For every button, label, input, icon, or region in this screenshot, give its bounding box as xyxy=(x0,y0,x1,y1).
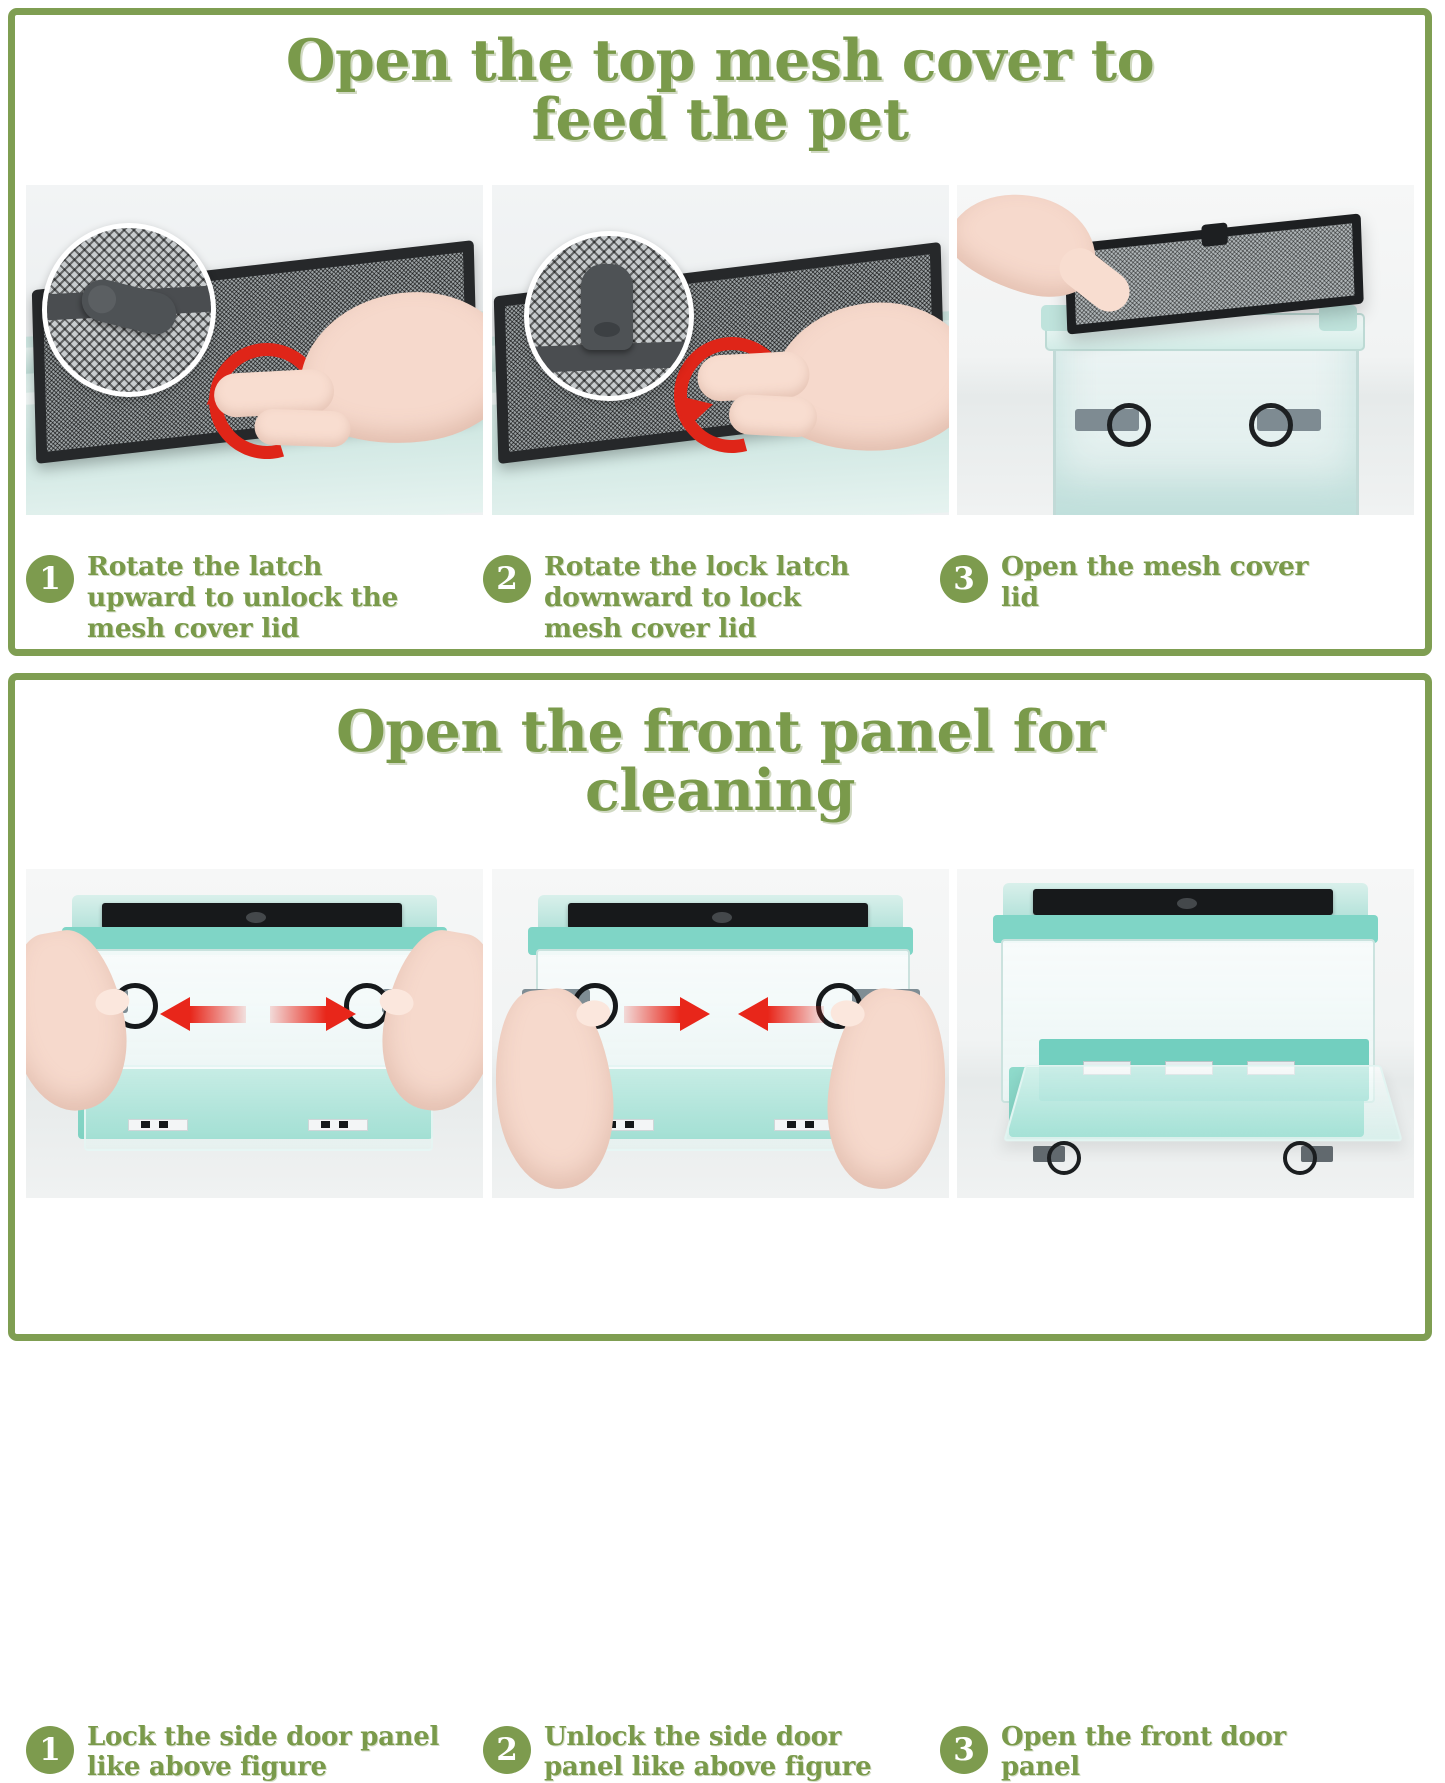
heading-line-2: cleaning xyxy=(15,762,1425,821)
step-number-badge: 3 xyxy=(940,555,988,603)
front-door-panel xyxy=(84,1065,433,1151)
heading-line-1: Open the front panel for xyxy=(15,703,1425,762)
arrow-shaft xyxy=(768,1006,824,1023)
magnifier-inset-unlocked-latch xyxy=(42,223,216,397)
front-door-panel-open xyxy=(1003,1065,1403,1141)
caption-row-bottom: 1 Lock the side door panel like above fi… xyxy=(15,1722,1425,1783)
caption-text: Lock the side door panel like above figu… xyxy=(87,1722,439,1783)
ring xyxy=(1047,1141,1081,1175)
step-number-badge: 1 xyxy=(26,555,74,603)
photo-row-top xyxy=(15,185,1425,515)
ring-latch-left xyxy=(1033,1141,1079,1167)
photo-step-1-rotate-latch-up xyxy=(26,185,483,515)
caption-line-2: panel like above figure xyxy=(544,1752,871,1782)
corner-clip-right xyxy=(1319,305,1357,331)
slide-rail-right xyxy=(308,1119,368,1131)
caption-line-3: mesh cover lid xyxy=(87,613,398,644)
caption-line-2: downward to lock xyxy=(544,582,849,613)
ring-latch-left xyxy=(1107,403,1151,447)
latch-closeup xyxy=(77,275,180,339)
step-number-badge: 1 xyxy=(26,1726,74,1774)
section-top-mesh-cover: Open the top mesh cover to feed the pet xyxy=(8,8,1432,656)
caption-line-2: upward to unlock the xyxy=(87,582,398,613)
slide-rail-right xyxy=(774,1119,834,1131)
arrow-right-icon xyxy=(624,997,710,1031)
step-number-badge: 2 xyxy=(483,1726,531,1774)
caption-step-3: 3 Open the mesh cover lid xyxy=(940,551,1397,644)
caption-line-1: Rotate the lock latch xyxy=(544,551,849,582)
caption-step-1: 1 Lock the side door panel like above fi… xyxy=(26,1722,483,1783)
arrow-left-icon xyxy=(160,997,246,1031)
arrow-shaft xyxy=(190,1006,246,1023)
caption-text: Unlock the side door panel like above fi… xyxy=(544,1722,871,1783)
arrow-head xyxy=(680,997,710,1031)
arrow-left-icon xyxy=(738,997,824,1031)
caption-line-1: Unlock the side door xyxy=(544,1722,871,1752)
arrow-shaft xyxy=(270,1006,326,1023)
section-top-heading: Open the top mesh cover to feed the pet xyxy=(15,15,1425,149)
photo-step-1-lock-side-door xyxy=(26,869,483,1198)
caption-line-3: mesh cover lid xyxy=(544,613,849,644)
middle-finger xyxy=(728,394,818,439)
section-bottom-front-panel: Open the front panel for cleaning xyxy=(8,673,1432,1341)
mesh-cover-lid xyxy=(568,903,868,929)
caption-step-1: 1 Rotate the latch upward to unlock the … xyxy=(26,551,483,644)
photo-step-3-open-mesh-lid xyxy=(957,185,1414,515)
arrow-head xyxy=(738,997,768,1031)
photo-step-3-open-front-door xyxy=(957,869,1414,1198)
instruction-sheet: Open the top mesh cover to feed the pet xyxy=(0,0,1445,1349)
caption-line-1: Rotate the latch xyxy=(87,551,398,582)
slide-rail-left xyxy=(128,1119,188,1131)
arrow-right-icon xyxy=(270,997,356,1031)
ring-latch-right xyxy=(1249,403,1293,447)
photo-step-2-rotate-latch-down xyxy=(492,185,949,515)
caption-step-2: 2 Unlock the side door panel like above … xyxy=(483,1722,940,1783)
caption-text: Open the mesh cover lid xyxy=(1001,551,1308,613)
caption-line-2: lid xyxy=(1001,582,1308,613)
arrow-head xyxy=(326,997,356,1031)
caption-line-1: Lock the side door panel xyxy=(87,1722,439,1752)
mesh-cover-lid xyxy=(1033,889,1333,915)
caption-line-1: Open the mesh cover xyxy=(1001,551,1308,582)
ring xyxy=(1283,1141,1317,1175)
caption-step-3: 3 Open the front door panel xyxy=(940,1722,1397,1783)
mesh-cover-lid xyxy=(102,903,402,929)
arrow-head xyxy=(160,997,190,1031)
caption-step-2: 2 Rotate the lock latch downward to lock… xyxy=(483,551,940,644)
caption-row-top: 1 Rotate the latch upward to unlock the … xyxy=(15,551,1425,644)
photo-step-2-unlock-side-door xyxy=(492,869,949,1198)
caption-text: Open the front door panel xyxy=(1001,1722,1286,1783)
photo-row-bottom xyxy=(15,869,1425,1198)
heading-line-2: feed the pet xyxy=(15,91,1425,150)
caption-line-2: panel xyxy=(1001,1752,1286,1782)
step-number-badge: 3 xyxy=(940,1726,988,1774)
heading-line-1: Open the top mesh cover to xyxy=(15,32,1425,91)
caption-text: Rotate the lock latch downward to lock m… xyxy=(544,551,849,644)
caption-line-1: Open the front door xyxy=(1001,1722,1286,1752)
step-number-badge: 2 xyxy=(483,555,531,603)
latch-closeup xyxy=(581,264,633,350)
section-bottom-heading: Open the front panel for cleaning xyxy=(15,680,1425,820)
middle-finger xyxy=(254,408,351,447)
ring-latch-right xyxy=(1287,1141,1333,1167)
arrow-shaft xyxy=(624,1006,680,1023)
magnifier-inset-locked-latch xyxy=(524,231,694,401)
caption-text: Rotate the latch upward to unlock the me… xyxy=(87,551,398,644)
caption-line-2: like above figure xyxy=(87,1752,439,1782)
